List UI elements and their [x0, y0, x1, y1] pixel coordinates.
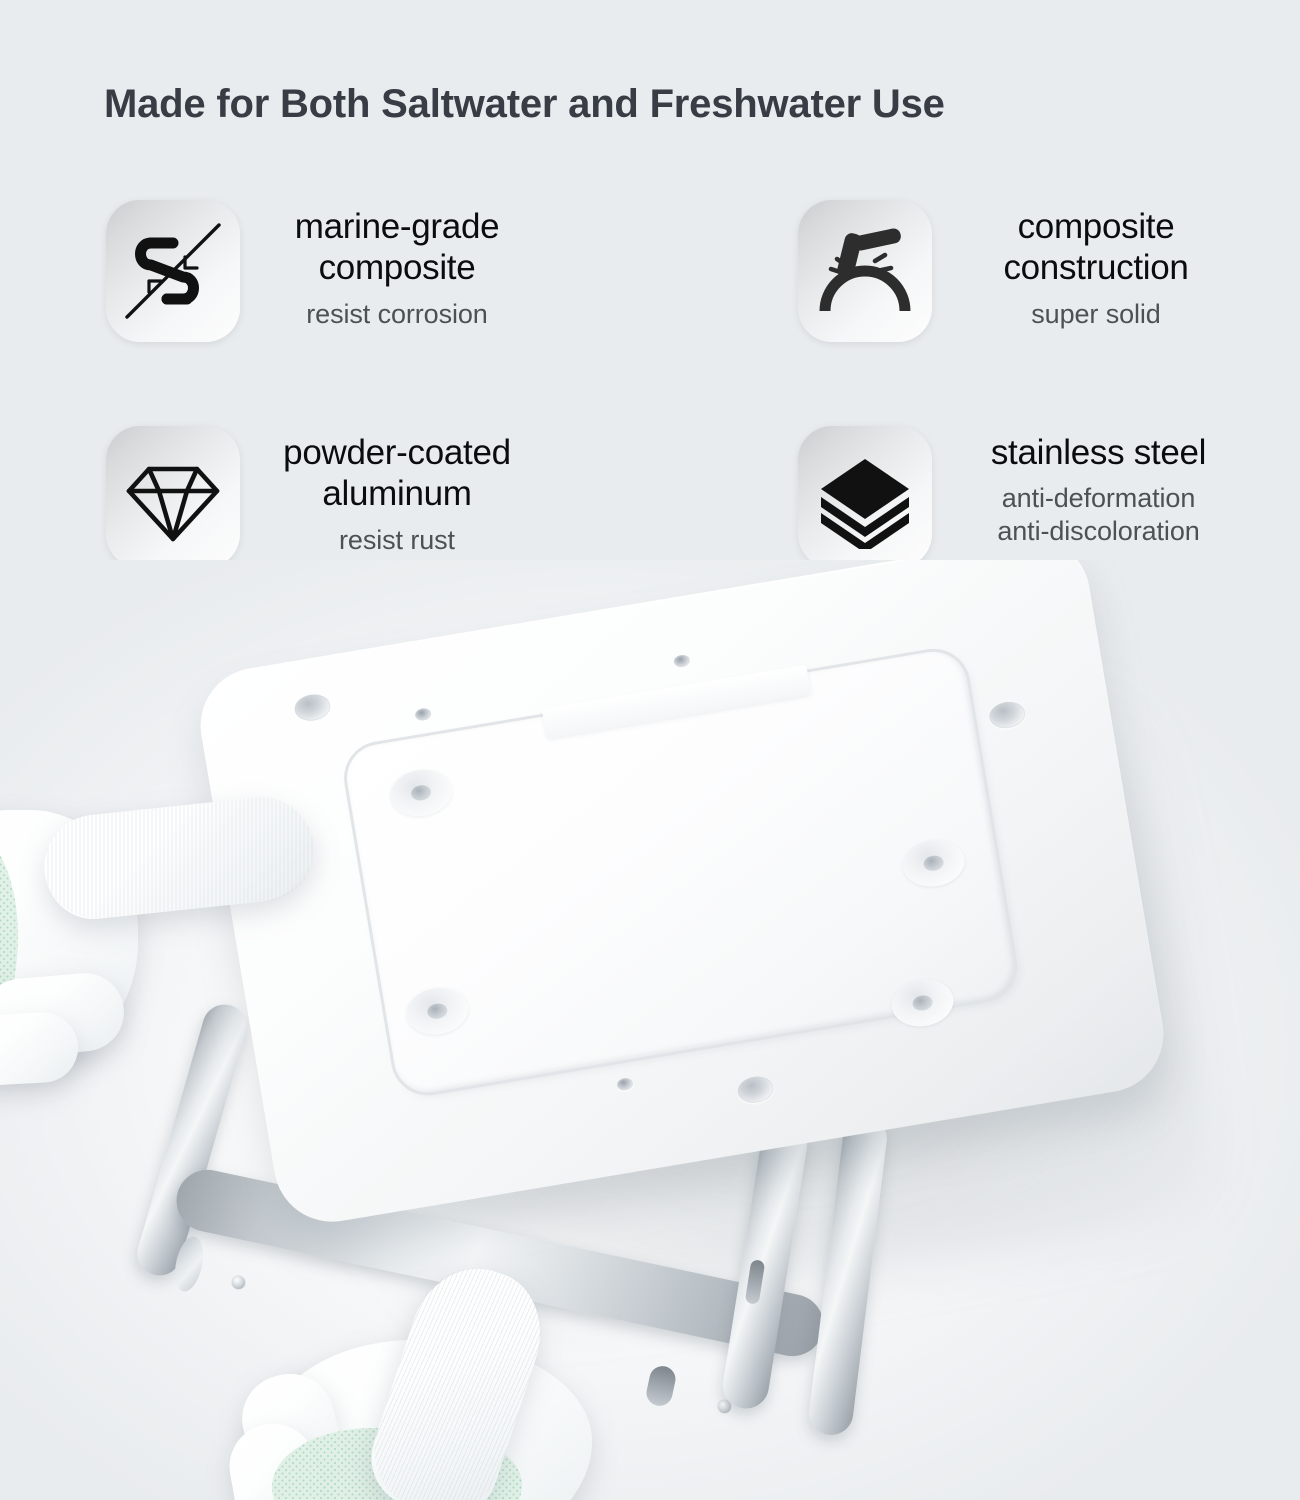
feature-text-block: composite construction super solid [932, 200, 1238, 330]
feature-text-block: stainless steel anti-deformation anti-di… [932, 426, 1243, 548]
screw-hole [293, 692, 333, 724]
feature-subtitle: anti-deformation anti-discoloration [954, 482, 1243, 547]
glove-finger [0, 1011, 80, 1087]
feature-title-line1: powder-coated [283, 433, 511, 472]
feature-text-block: powder-coated aluminum resist rust [240, 426, 536, 556]
feature-sub-line1: resist corrosion [306, 299, 487, 329]
feature-subtitle: super solid [954, 298, 1238, 331]
lid-boss [888, 975, 957, 1031]
feature-title: marine-grade composite [258, 206, 536, 289]
screw-hole [616, 1077, 634, 1091]
hammer-strike-arch-icon [798, 200, 932, 342]
feature-sub-line2: anti-discoloration [997, 516, 1199, 546]
feature-sub-line1: super solid [1031, 299, 1160, 329]
infographic-page: Made for Both Saltwater and Freshwater U… [0, 0, 1300, 1500]
feature-item-stainless-steel: stainless steel anti-deformation anti-di… [798, 426, 1243, 568]
feature-title-line1: stainless steel [991, 433, 1206, 472]
diamond-icon [106, 426, 240, 568]
feature-subtitle: resist corrosion [258, 298, 536, 331]
feature-item-composite-construction: composite construction super solid [798, 200, 1238, 342]
feature-title: stainless steel [954, 432, 1243, 473]
feature-title: composite construction [954, 206, 1238, 289]
feature-grid: marine-grade composite resist corrosion [0, 186, 1300, 606]
feature-title: powder-coated aluminum [258, 432, 536, 515]
feature-sub-line1: resist rust [339, 525, 455, 555]
layered-stack-icon [798, 426, 932, 568]
corrosion-resistant-pipe-icon [106, 200, 240, 342]
feature-item-marine-grade-composite: marine-grade composite resist corrosion [106, 200, 536, 342]
lid-boss [403, 983, 472, 1039]
product-photo [0, 560, 1300, 1500]
lid-boss [899, 835, 968, 891]
gloved-hand-left [0, 800, 340, 1100]
screw-hole [736, 1074, 776, 1106]
screw-hole [673, 654, 691, 668]
feature-item-powder-coated-aluminum: powder-coated aluminum resist rust [106, 426, 536, 568]
feature-sub-line1: anti-deformation [1002, 483, 1196, 513]
feature-title-line2: aluminum [322, 474, 471, 513]
glove-knit-texture [39, 792, 318, 924]
feature-subtitle: resist rust [258, 524, 536, 557]
screw-hole [414, 707, 432, 721]
feature-text-block: marine-grade composite resist corrosion [240, 200, 536, 330]
feature-title-line2: composite [319, 248, 476, 287]
gloved-hand-bottom [232, 1250, 702, 1500]
feature-title-line1: composite [1018, 207, 1175, 246]
feature-title-line2: construction [1003, 248, 1188, 287]
feature-title-line1: marine-grade [295, 207, 500, 246]
page-title: Made for Both Saltwater and Freshwater U… [104, 82, 945, 127]
lid-boss [387, 765, 456, 821]
screw-hole [987, 699, 1027, 731]
